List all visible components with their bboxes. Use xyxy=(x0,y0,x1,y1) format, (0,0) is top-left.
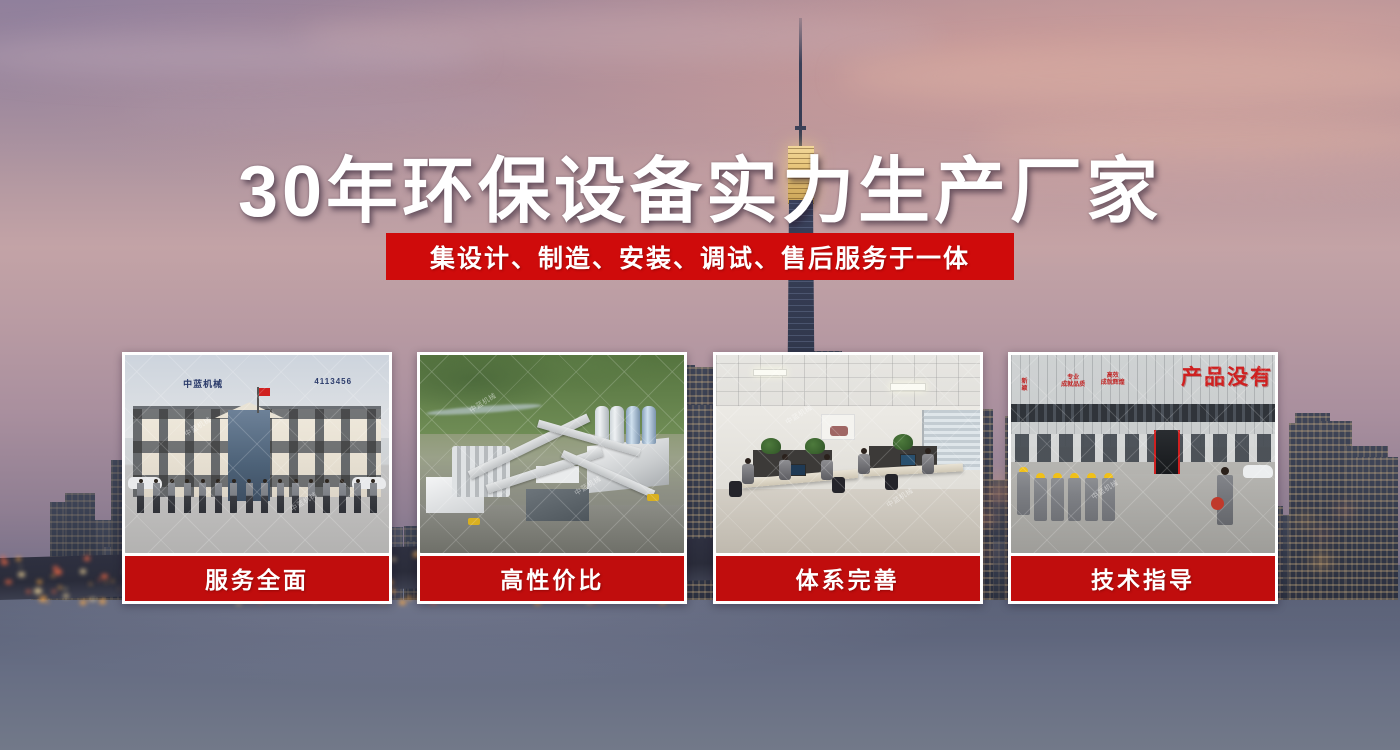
photo-staff xyxy=(779,454,791,480)
photo-ceiling-light xyxy=(753,369,787,376)
card-photo-aerial-plant: 中蓝机械 中蓝机械 xyxy=(420,355,684,553)
shore-light xyxy=(51,575,54,577)
shore-light xyxy=(37,580,42,584)
shore-light xyxy=(87,599,89,601)
card-photo-office-building: 中蓝机械 4113456 中蓝机械 中蓝机械 xyxy=(125,355,389,553)
photo-wall-band xyxy=(1011,404,1275,422)
card-caption-bar: 技术指导 xyxy=(1011,556,1275,601)
photo-wall-slogan: 新颖 xyxy=(1022,379,1028,394)
photo-chair xyxy=(885,474,898,490)
photo-chair xyxy=(729,481,742,497)
card-caption-bar: 服务全面 xyxy=(125,556,389,601)
feature-card[interactable]: 中蓝机械 4113456 中蓝机械 中蓝机械 服务全面 xyxy=(122,352,392,604)
shore-light xyxy=(34,588,41,593)
shore-light xyxy=(80,569,86,574)
photo-worker-row xyxy=(1017,467,1154,521)
photo-wall-headline: 产品没有 xyxy=(1181,361,1273,391)
shore-light xyxy=(19,566,21,568)
photo-staff-row xyxy=(137,479,377,513)
photo-wall-slogan: 专业成就品质 xyxy=(1061,375,1085,390)
shore-light xyxy=(87,551,90,553)
photo-silo xyxy=(626,406,640,444)
shore-light xyxy=(84,556,90,560)
photo-plant xyxy=(893,434,913,450)
photo-monitor xyxy=(900,454,916,466)
photo-silo xyxy=(610,406,624,444)
shore-light xyxy=(90,598,95,602)
shore-light xyxy=(18,572,24,576)
shore-light xyxy=(53,566,58,569)
shore-light xyxy=(105,581,107,583)
shore-light xyxy=(111,580,115,582)
card-caption-text: 体系完善 xyxy=(796,561,900,595)
city-light-glow xyxy=(1316,531,1329,537)
page-title: 30年环保设备实力生产厂家 xyxy=(0,132,1400,237)
shore-light xyxy=(64,588,66,590)
card-caption-text: 技术指导 xyxy=(1091,561,1195,595)
photo-plant xyxy=(761,438,781,454)
photo-company-sign: 中蓝机械 xyxy=(183,377,223,390)
shore-light xyxy=(58,586,62,589)
cloud xyxy=(120,96,540,126)
city-light-glow xyxy=(1300,516,1311,525)
photo-staff xyxy=(821,454,833,480)
feature-card[interactable]: 中蓝机械 中蓝机械 高性价比 xyxy=(417,352,687,604)
card-photo-office-interior: 中蓝机械 中蓝机械 xyxy=(716,355,980,553)
photo-staff xyxy=(922,448,934,474)
photo-silo xyxy=(642,406,656,444)
photo-wall-slogan: 高效成就辉煌 xyxy=(1101,373,1125,388)
card-photo-workers: 产品没有 新颖 专业成就品质 高效成就辉煌 xyxy=(1011,355,1275,553)
shore-light xyxy=(54,569,61,574)
photo-staff xyxy=(742,458,754,484)
tower-spire xyxy=(799,18,802,148)
shore-light xyxy=(1,560,8,565)
photo-factory-windows xyxy=(1011,434,1275,462)
card-caption-bar: 体系完善 xyxy=(716,556,980,601)
photo-flag xyxy=(257,387,259,413)
photo-ceiling xyxy=(716,355,980,406)
card-caption-text: 高性价比 xyxy=(500,561,604,595)
shore-light xyxy=(5,580,12,585)
shore-light xyxy=(80,600,86,604)
photo-staff xyxy=(858,448,870,474)
photo-car xyxy=(1243,465,1273,478)
subtitle-text: 集设计、制造、安装、调试、售后服务于一体 xyxy=(430,239,970,275)
shore-light xyxy=(46,601,49,603)
feature-card[interactable]: 中蓝机械 中蓝机械 体系完善 xyxy=(713,352,983,604)
photo-wall-poster xyxy=(821,414,855,440)
subtitle-bar: 集设计、制造、安装、调试、售后服务于一体 xyxy=(386,233,1014,280)
photo-monitor xyxy=(790,464,806,476)
photo-floor xyxy=(716,489,980,552)
shore-light xyxy=(118,588,120,590)
photo-chair xyxy=(832,477,845,493)
photo-plant xyxy=(805,438,825,454)
shore-light xyxy=(52,590,56,593)
shore-light xyxy=(16,557,21,561)
promo-banner: 30年环保设备实力生产厂家 集设计、制造、安装、调试、售后服务于一体 中蓝机械 … xyxy=(0,0,1400,750)
shore-light xyxy=(101,574,108,579)
photo-excavator xyxy=(468,518,480,525)
shore-light xyxy=(63,594,69,598)
skyline-building xyxy=(1356,457,1398,600)
shore-light xyxy=(26,590,31,593)
feature-card-list: 中蓝机械 4113456 中蓝机械 中蓝机械 服务全面 xyxy=(122,352,1278,604)
shore-light xyxy=(99,599,106,604)
shore-light xyxy=(89,583,91,585)
card-caption-text: 服务全面 xyxy=(205,561,309,595)
feature-card[interactable]: 产品没有 新颖 专业成就品质 高效成就辉煌 xyxy=(1008,352,1278,604)
cloud xyxy=(300,10,940,62)
photo-factory-door xyxy=(1154,430,1180,477)
photo-excavator xyxy=(647,494,659,501)
card-caption-bar: 高性价比 xyxy=(420,556,684,601)
photo-ceiling-light xyxy=(890,383,926,391)
skyline-building xyxy=(1289,423,1315,600)
photo-phone-number: 4113456 xyxy=(314,377,352,386)
shore-light xyxy=(1,556,6,559)
shore-light xyxy=(98,579,101,581)
photo-supervisor xyxy=(1217,467,1233,525)
